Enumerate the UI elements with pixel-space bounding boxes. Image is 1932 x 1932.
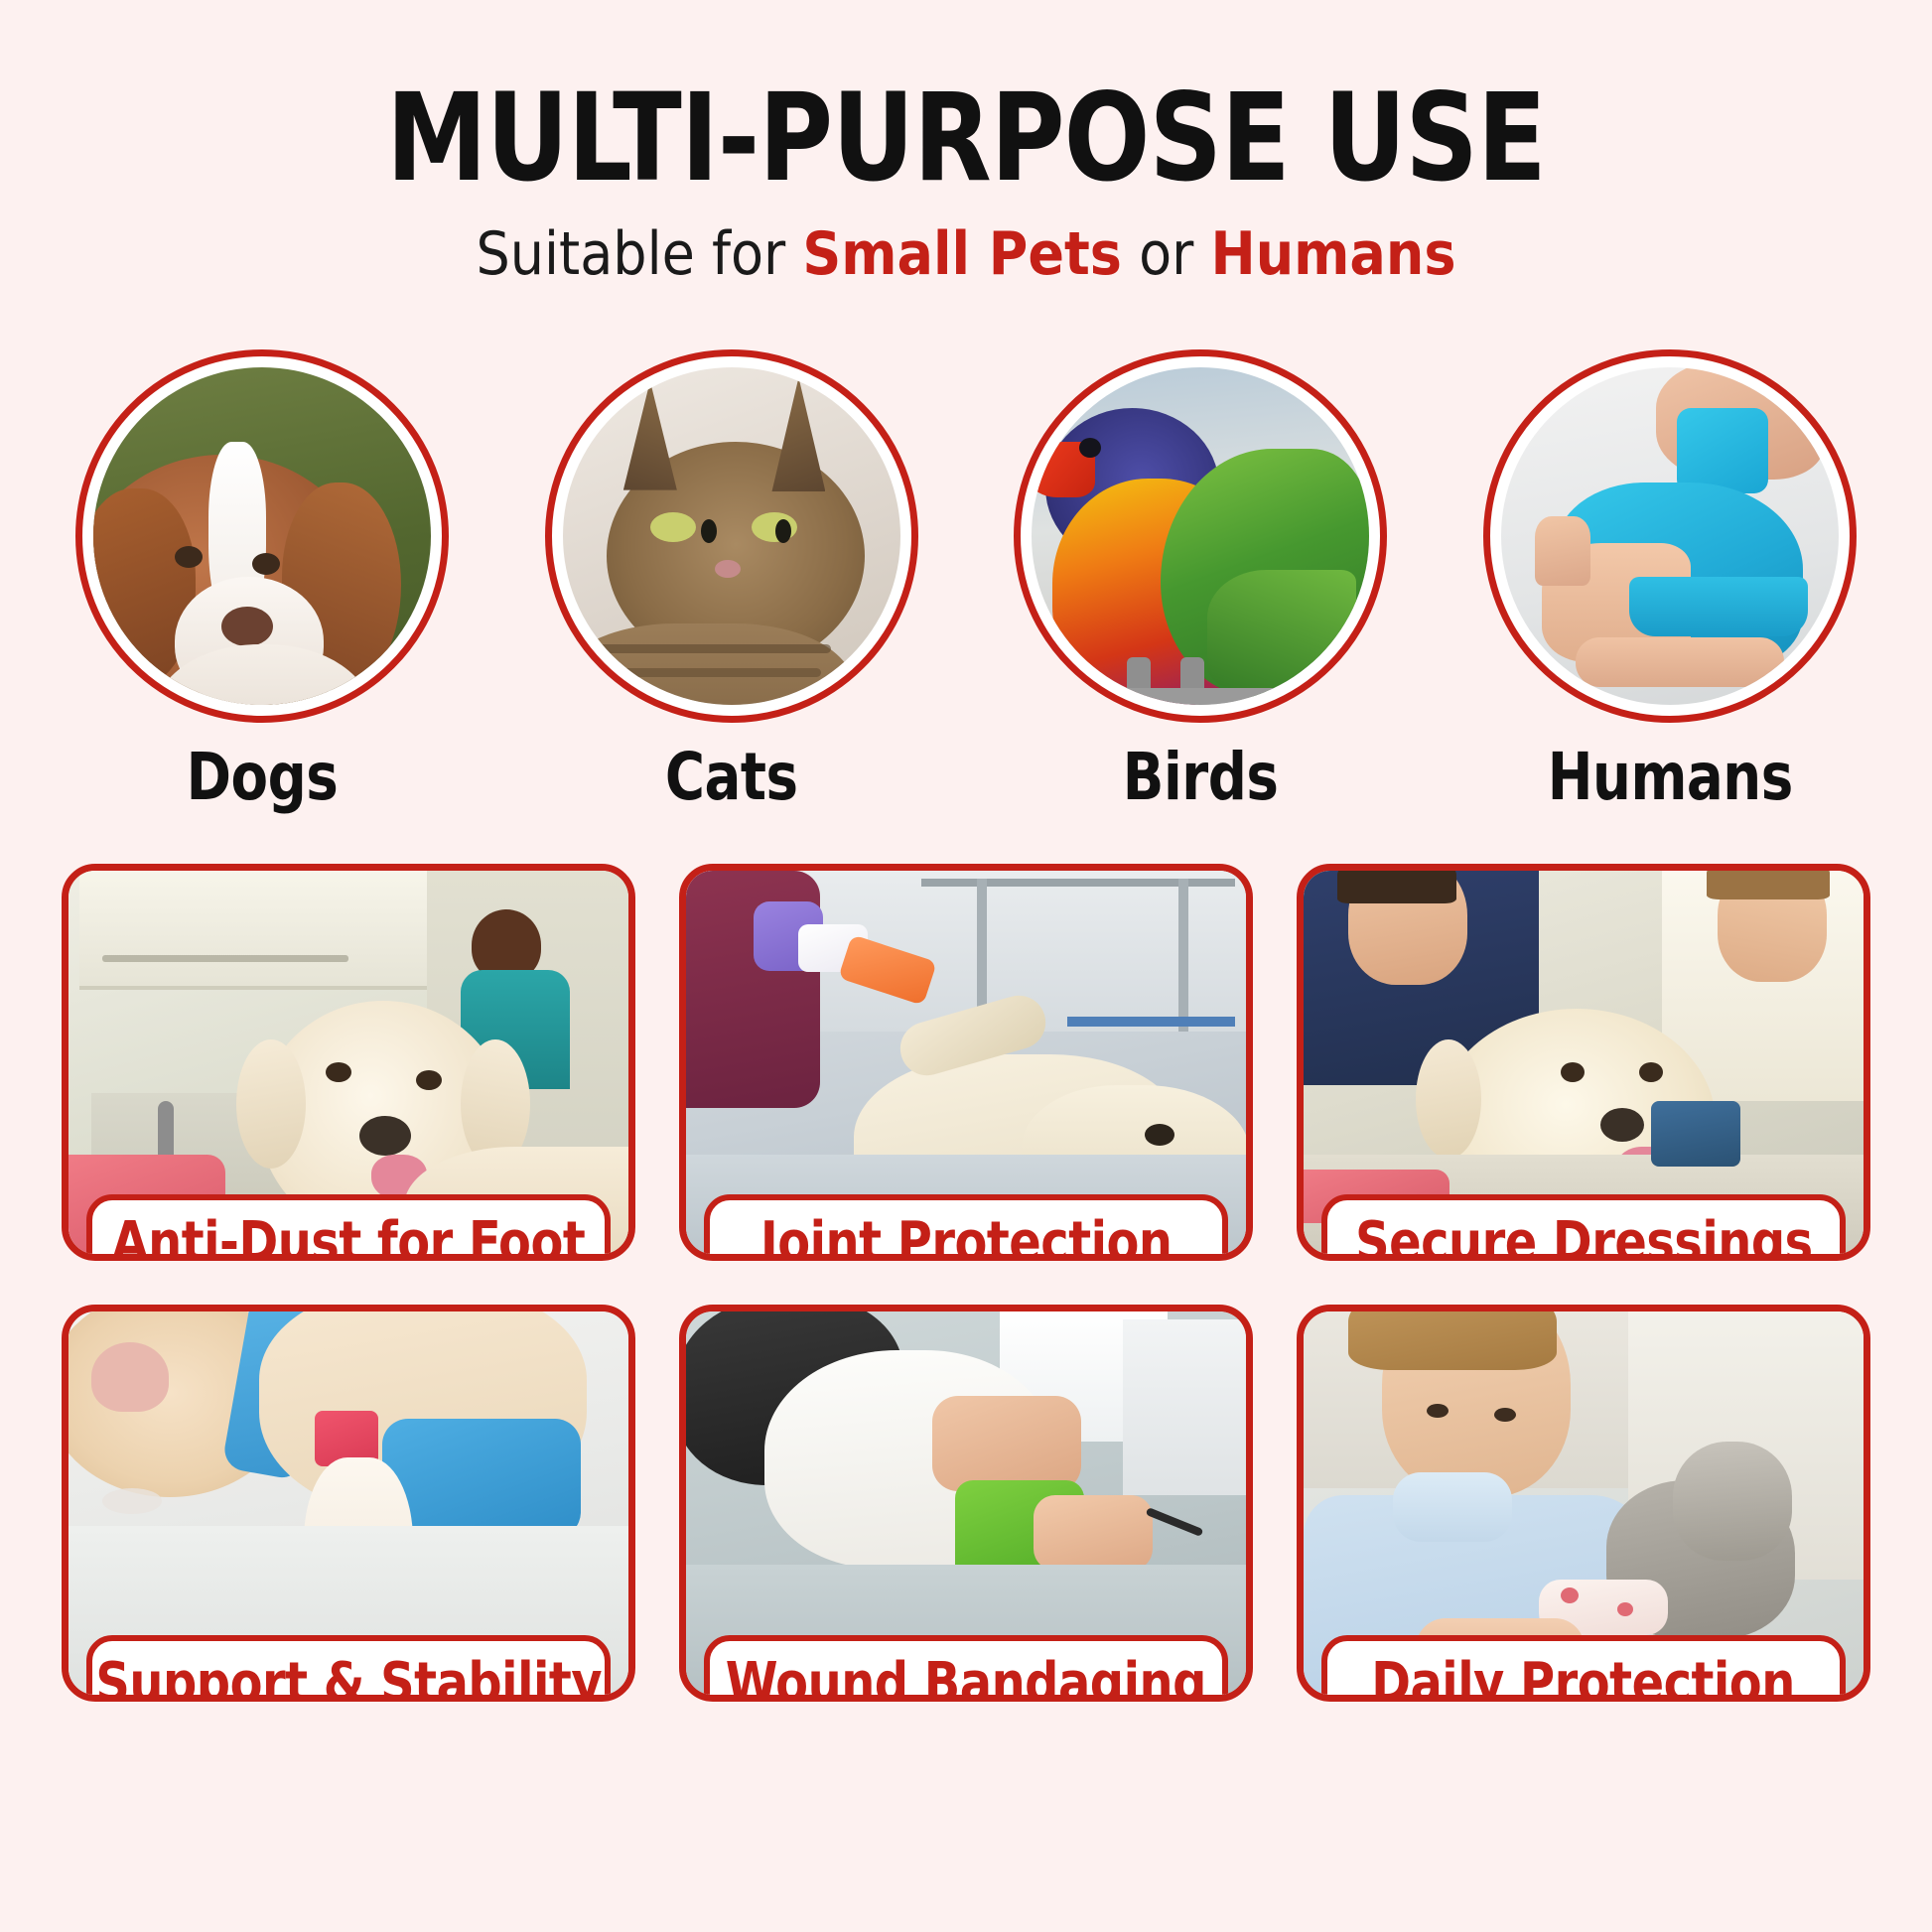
audience-label-dogs: Dogs	[187, 745, 339, 810]
feature-card-daily-protection[interactable]: Daily Protection	[1297, 1305, 1870, 1702]
feature-label-daily-protection: Daily Protection	[1321, 1635, 1846, 1702]
subtitle-accent-humans: Humans	[1211, 219, 1456, 289]
subtitle-prefix: Suitable for	[477, 219, 803, 289]
feature-card-joint-protection[interactable]: Joint Protection	[679, 864, 1253, 1261]
photo-humans	[1501, 367, 1839, 705]
audience-circle-frame-humans	[1483, 349, 1857, 723]
audience-circle-frame-cats	[545, 349, 918, 723]
feature-label-anti-dust-for-foot: Anti-Dust for Foot	[86, 1194, 611, 1261]
feature-card-support-and-stability[interactable]: Support & Stability	[62, 1305, 635, 1702]
feature-label-text: Support & Stability	[95, 1656, 602, 1702]
feature-label-text: Daily Protection	[1372, 1656, 1796, 1702]
audience-circle-row: Dogs Cats	[0, 349, 1932, 810]
audience-item-cats: Cats	[533, 349, 930, 810]
audience-label-birds: Birds	[1123, 745, 1279, 810]
audience-item-dogs: Dogs	[64, 349, 461, 810]
audience-label-humans: Humans	[1547, 745, 1792, 810]
page-title: MULTI-PURPOSE USE	[68, 77, 1864, 199]
audience-circle-frame-dogs	[75, 349, 449, 723]
feature-label-joint-protection: Joint Protection	[704, 1194, 1228, 1261]
audience-item-birds: Birds	[1002, 349, 1399, 810]
photo-dogs	[93, 367, 431, 705]
audience-label-cats: Cats	[665, 745, 798, 810]
feature-label-text: Wound Bandaging	[726, 1656, 1206, 1702]
photo-birds	[1032, 367, 1369, 705]
feature-card-grid: Anti-Dust for Foot	[62, 864, 1870, 1702]
feature-card-secure-dressings[interactable]: Secure Dressings	[1297, 864, 1870, 1261]
subtitle-middle: or	[1122, 219, 1211, 289]
page-subtitle: Suitable for Small Pets or Humans	[96, 224, 1835, 284]
feature-label-wound-bandaging: Wound Bandaging	[704, 1635, 1228, 1702]
subtitle-accent-small-pets: Small Pets	[802, 219, 1122, 289]
feature-label-support-and-stability: Support & Stability	[86, 1635, 611, 1702]
audience-item-humans: Humans	[1471, 349, 1868, 810]
feature-label-text: Joint Protection	[760, 1215, 1173, 1261]
audience-circle-frame-birds	[1014, 349, 1387, 723]
feature-card-anti-dust-for-foot[interactable]: Anti-Dust for Foot	[62, 864, 635, 1261]
feature-label-text: Anti-Dust for Foot	[112, 1215, 586, 1261]
photo-cats	[563, 367, 900, 705]
header: MULTI-PURPOSE USE Suitable for Small Pet…	[0, 0, 1932, 284]
feature-card-wound-bandaging[interactable]: Wound Bandaging	[679, 1305, 1253, 1702]
feature-label-secure-dressings: Secure Dressings	[1321, 1194, 1846, 1261]
feature-label-text: Secure Dressings	[1355, 1215, 1813, 1261]
